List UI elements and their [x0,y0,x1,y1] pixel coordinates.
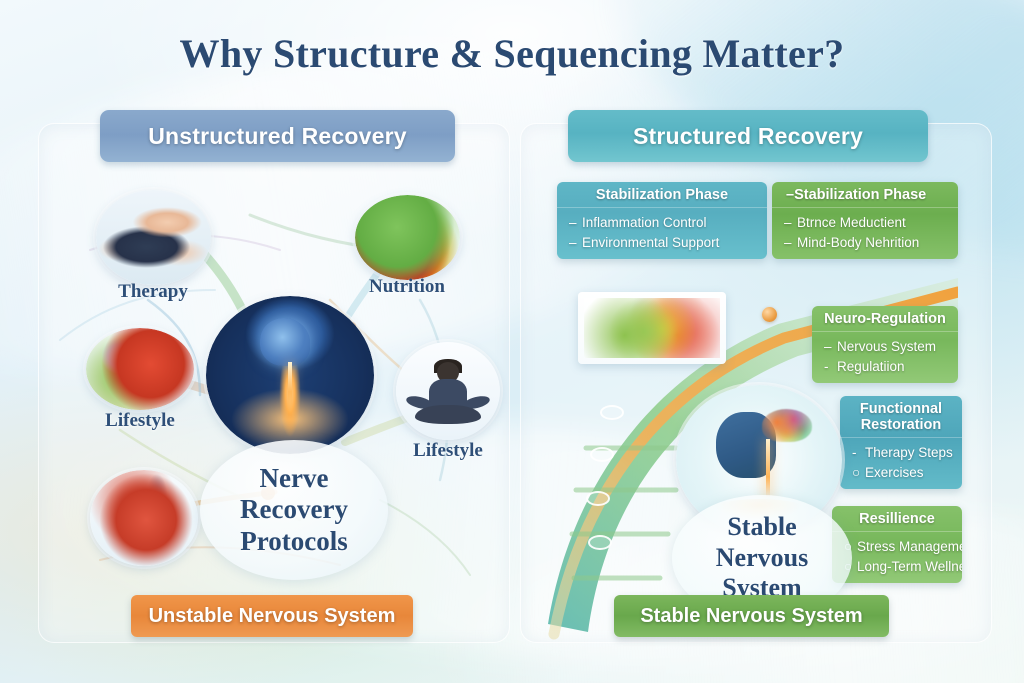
infographic-canvas: Why Structure & Sequencing Matter? Unstr… [0,0,1024,683]
card-item: –Environmental Support [569,233,757,253]
core-line-1: Nerve [260,463,329,493]
card-item: –Inflammation Control [569,213,757,233]
card-functional-restoration[interactable]: Functionnal Restoration -Therapy Steps ○… [840,396,962,489]
node-label-lifestyle-yoga: Lifestyle [363,440,533,462]
page-title: Why Structure & Sequencing Matter? [0,30,1024,77]
card-bullet: – [784,233,797,253]
card-title: Functionnal Restoration [840,396,962,438]
node-lifestyle-yoga[interactable] [396,342,500,440]
card-item-text: Btrnce Meductient [797,215,906,230]
node-lifestyle-food[interactable] [86,328,194,410]
card-stabilization-phase-green[interactable]: –Stabilization Phase –Btrnce Meductient … [772,182,958,259]
card-title-text: Stabilization Phase [794,187,926,203]
stable-nervous-system-banner: Stable Nervous System [614,595,889,637]
unstructured-recovery-header: Unstructured Recovery [100,110,455,162]
card-item: –Btrnce Meductient [784,213,948,233]
card-neuro-regulation[interactable]: Neuro-Regulation –Nervous System -Regula… [812,306,958,383]
card-title: Resillience [832,506,962,532]
node-label-lifestyle-food: Lifestyle [55,410,225,432]
card-item-text: Therapy Steps [865,445,953,460]
card-title: Neuro-Regulation [812,306,958,332]
card-item: ○Exercises [852,463,952,483]
card-item: –Mind-Body Nehrition [784,233,948,253]
card-bullet: – [824,337,837,357]
node-heart[interactable] [90,470,198,566]
card-stabilization-phase-blue[interactable]: Stabilization Phase –Inflammation Contro… [557,182,767,259]
healthy-food-photo-icon [584,298,720,358]
massage-therapy-photo-icon [96,190,211,285]
card-item: –Nervous System [824,337,948,357]
card-item-text: Environmental Support [582,235,719,250]
core-line-2: Nervous [716,543,808,572]
card-item-text: Long-Term Wellness [857,559,962,574]
card-bullet: - [824,357,837,377]
card-item: -Therapy Steps [852,443,952,463]
card-item-text: Exercises [865,465,924,480]
card-item: ○Long-Term Wellness [844,557,952,577]
card-bullet: – [569,233,582,253]
card-item: -Regulatiion [824,357,948,377]
node-label-nutrition: Nutrition [322,276,492,298]
step-marker [588,535,612,550]
card-item-text: Mind-Body Nehrition [797,235,919,250]
card-bullet: – [784,213,797,233]
card-bullet: - [852,443,865,463]
arc-node-marker [762,307,777,322]
card-bullet: – [569,213,582,233]
unstable-nervous-system-banner: Unstable Nervous System [131,595,413,637]
card-resilience[interactable]: Resillience ○Stress Management ○Long-Ter… [832,506,962,583]
card-item-text: Inflammation Control [582,215,707,230]
card-bullet: – [786,187,794,203]
anatomical-heart-photo-icon [90,470,198,566]
card-item: ○Stress Management [844,537,952,557]
step-marker [600,405,624,420]
node-therapy[interactable] [96,190,211,285]
node-nutrition[interactable] [355,195,460,280]
healthy-food-card[interactable] [578,292,726,364]
yoga-meditation-photo-icon [396,342,500,440]
step-marker [586,491,610,506]
card-title: Stabilization Phase [557,182,767,208]
card-item-text: Stress Management [857,539,962,554]
core-line-1: Stable [727,512,796,541]
food-supplements-photo-icon [86,328,194,410]
nerve-recovery-protocols-label: Nerve Recovery Protocols [200,440,388,580]
card-item-text: Regulatiion [837,359,905,374]
node-label-therapy: Therapy [68,281,238,303]
nerve-recovery-figure[interactable] [206,296,374,454]
vegetables-photo-icon [355,195,460,280]
core-line-2: Recovery [240,494,348,524]
card-title: –Stabilization Phase [772,182,958,208]
step-marker [590,447,614,462]
card-item-text: Nervous System [837,339,936,354]
card-bullet: ○ [852,463,865,483]
core-line-3: Protocols [240,526,347,556]
nervous-system-figure-photo-icon [206,296,374,454]
structured-recovery-header: Structured Recovery [568,110,928,162]
